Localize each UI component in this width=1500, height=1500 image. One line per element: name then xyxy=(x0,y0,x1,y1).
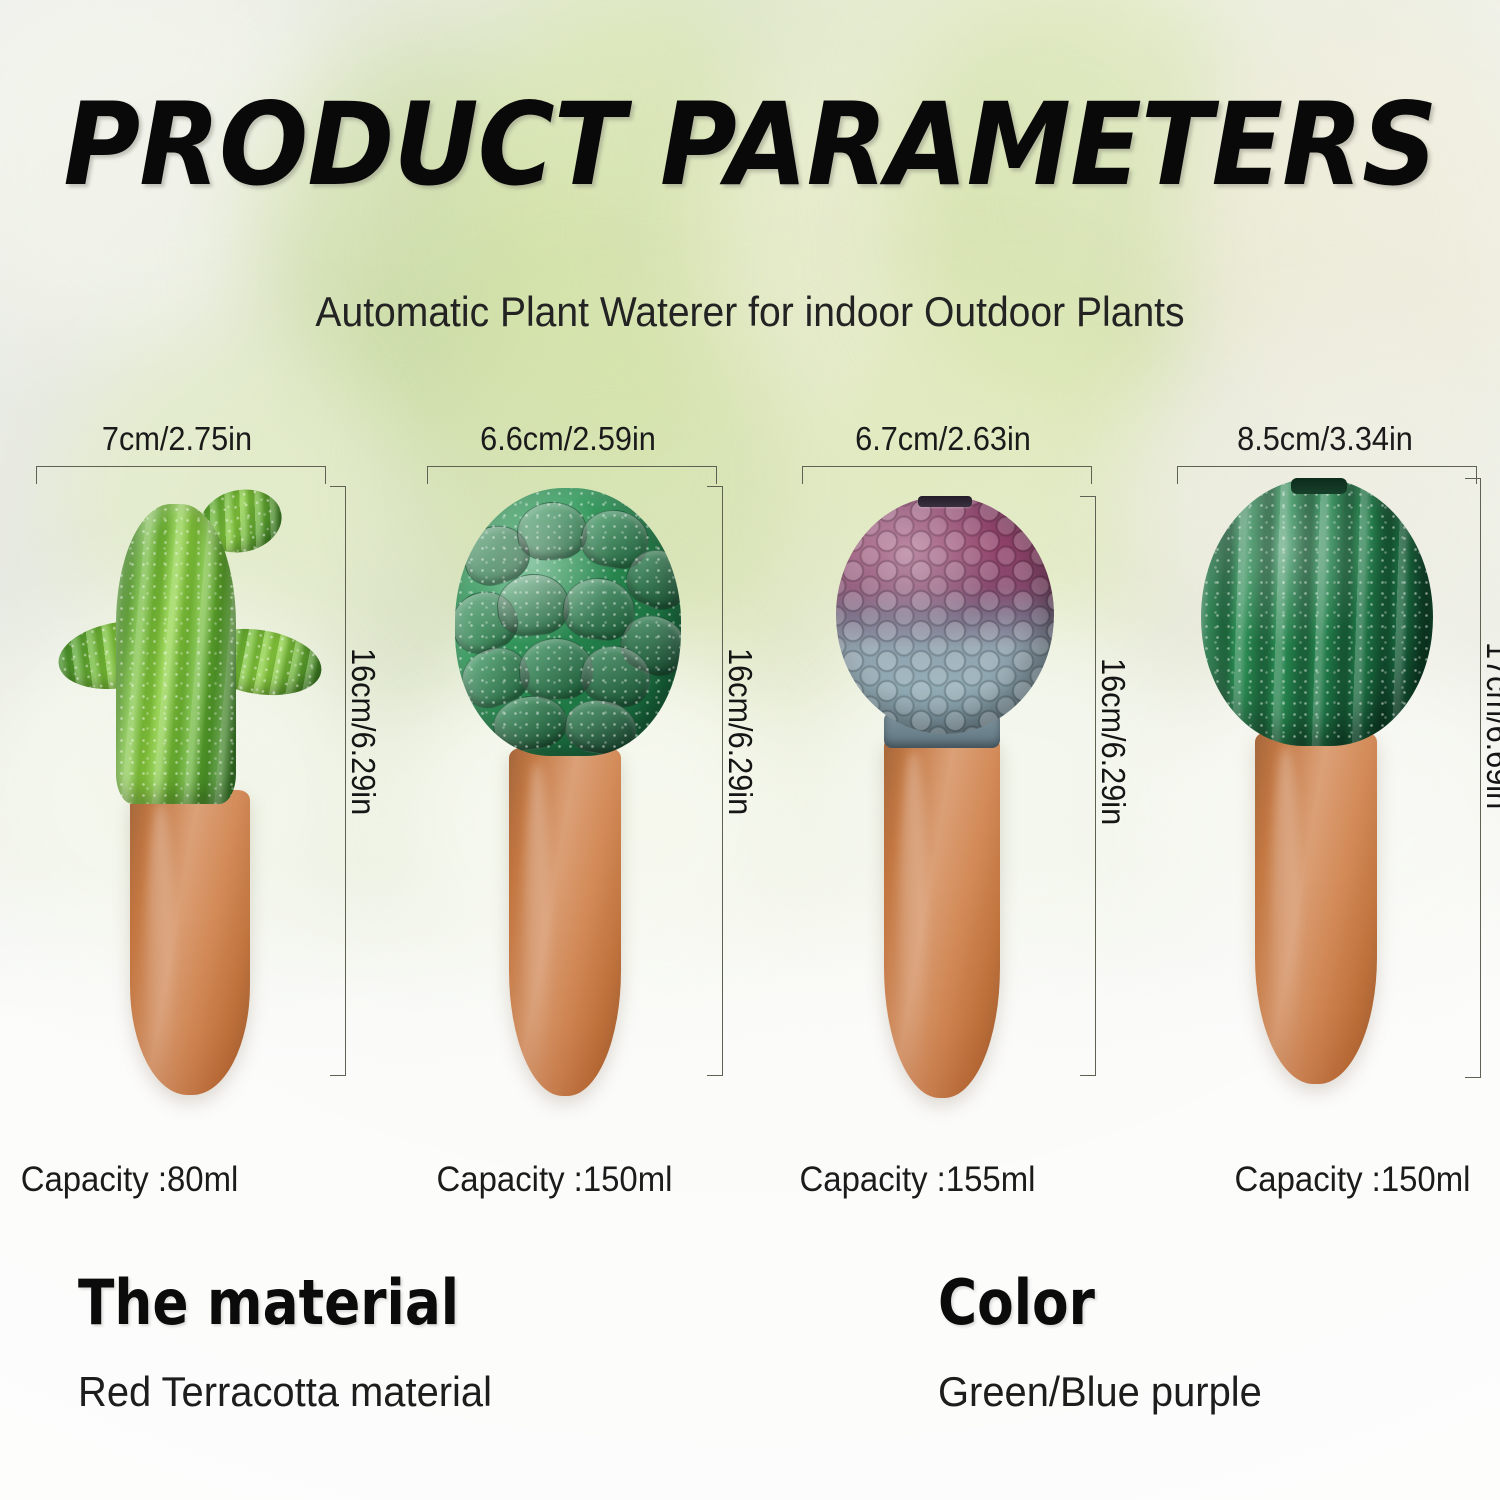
terracotta-stem xyxy=(884,736,1000,1098)
terracotta-stem xyxy=(1255,732,1377,1084)
height-label: 17cm/6.69in xyxy=(1479,642,1500,809)
artichoke-head xyxy=(455,488,681,756)
width-caliper-bracket xyxy=(802,466,1092,484)
material-heading: The material xyxy=(78,1272,459,1334)
material-value: Red Terracotta material xyxy=(78,1368,499,1416)
color-value: Green/Blue purple xyxy=(938,1368,1262,1416)
width-label: 6.6cm/2.59in xyxy=(415,420,722,458)
capacity-label: Capacity :80ml xyxy=(0,1160,306,1200)
width-label: 7cm/2.75in xyxy=(24,420,331,458)
page-subtitle: Automatic Plant Waterer for indoor Outdo… xyxy=(53,288,1448,336)
product-column-artichoke: 6.6cm/2.59in 16cm/6.29in xyxy=(375,420,750,1220)
hex-texture xyxy=(836,496,1054,734)
capacity-label: Capacity :150ml xyxy=(378,1160,731,1200)
product-image-purple-blue-ball xyxy=(822,486,1072,1106)
barrel-cactus-head xyxy=(1201,478,1433,746)
color-heading: Color xyxy=(938,1272,1231,1334)
product-column-cactus-saguaro: 7cm/2.75in 16cm/6.29in Capacity :80ml xyxy=(0,420,375,1220)
terracotta-stem xyxy=(130,790,250,1095)
product-image-cactus-saguaro xyxy=(60,480,320,1100)
cactus-body xyxy=(116,504,236,804)
capacity-label: Capacity :155ml xyxy=(741,1160,1094,1200)
capacity-label: Capacity :150ml xyxy=(1176,1160,1500,1200)
product-column-barrel-cactus: 8.5cm/3.34in 17cm/6.69in Capacity :150ml xyxy=(1125,420,1500,1220)
material-section: The material Red Terracotta material xyxy=(78,1272,521,1416)
water-fill-slot xyxy=(1291,478,1347,494)
width-label: 8.5cm/3.34in xyxy=(1172,420,1479,458)
artichoke-petal xyxy=(515,499,590,563)
width-label: 6.7cm/2.63in xyxy=(790,420,1097,458)
product-image-barrel-cactus xyxy=(1187,470,1447,1100)
water-fill-slot xyxy=(918,496,972,507)
product-image-artichoke xyxy=(445,480,695,1100)
glaze-speckle xyxy=(1201,478,1433,746)
terracotta-stem xyxy=(509,748,621,1096)
product-column-purple-blue-ball: 6.7cm/2.63in 16cm/6.29in Capacity :155ml xyxy=(750,420,1125,1220)
page-title: PRODUCT PARAMETERS xyxy=(60,88,1440,202)
glaze-speckle xyxy=(116,504,236,804)
color-section: Color Green/Blue purple xyxy=(938,1272,1279,1416)
ball-head xyxy=(836,496,1054,734)
